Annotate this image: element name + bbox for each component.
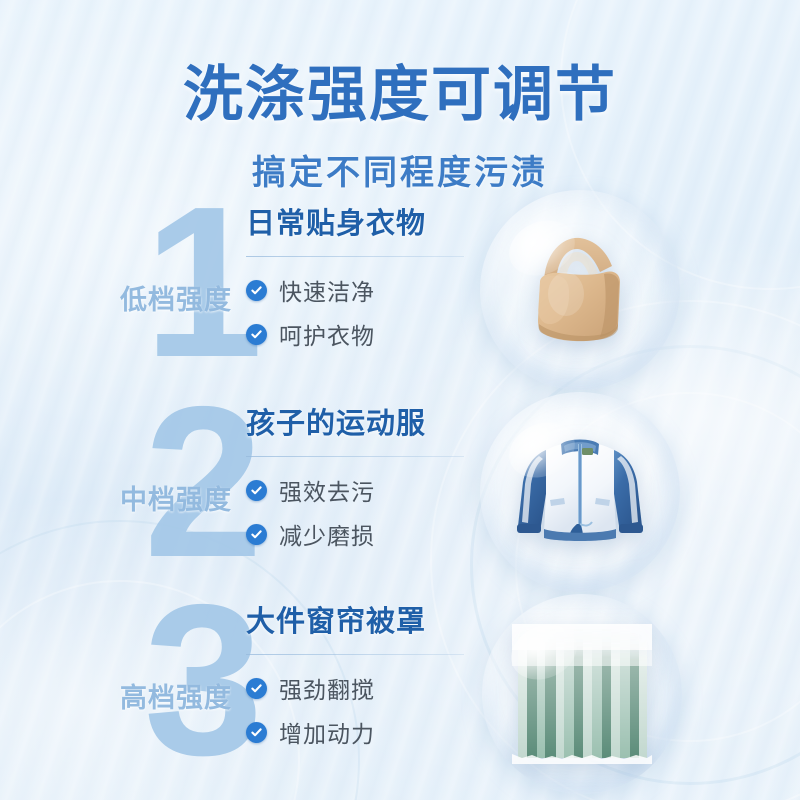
feature-label: 强劲翻搅 [279,671,375,705]
check-circle-icon [246,722,267,743]
intensity-row-2: 2 中档强度 孩子的运动服 强效去污 减少磨损 [0,390,800,590]
product-bubble-1 [480,190,680,390]
sports-jacket-icon [480,392,680,592]
divider [246,456,464,457]
divider [246,256,464,257]
feature-list: 快速洁净 呵护衣物 [246,273,471,351]
feature-label: 减少磨损 [279,517,375,551]
category-title: 日常贴身衣物 [246,200,471,242]
feature-item: 强劲翻搅 [246,671,471,705]
category-title: 大件窗帘被罩 [246,598,471,640]
level-text-column: 大件窗帘被罩 强劲翻搅 增加动力 [246,598,471,759]
product-bubble-3 [482,594,682,794]
feature-item: 呵护衣物 [246,317,471,351]
divider [246,654,464,655]
feature-label: 增加动力 [279,715,375,749]
feature-item: 减少磨损 [246,517,471,551]
feature-item: 快速洁净 [246,273,471,307]
feature-item: 增加动力 [246,715,471,749]
level-label: 中档强度 [96,478,256,517]
page-title: 洗涤强度可调节 [0,46,800,133]
feature-label: 强效去污 [279,473,375,507]
level-label: 低档强度 [96,278,256,317]
check-circle-icon [246,280,267,301]
check-circle-icon [246,480,267,501]
promo-poster: 洗涤强度可调节 搞定不同程度污渍 1 低档强度 日常贴身衣物 快速洁净 [0,0,800,800]
feature-label: 呵护衣物 [279,317,375,351]
feature-item: 强效去污 [246,473,471,507]
feature-list: 强效去污 减少磨损 [246,473,471,551]
category-title: 孩子的运动服 [246,400,471,442]
intensity-row-1: 1 低档强度 日常贴身衣物 快速洁净 呵护衣物 [0,190,800,390]
product-bubble-2 [480,392,680,592]
level-text-column: 孩子的运动服 强效去污 减少磨损 [246,400,471,561]
curtains-icon [482,594,682,794]
poster-header: 洗涤强度可调节 搞定不同程度污渍 [0,0,800,194]
feature-label: 快速洁净 [279,273,375,307]
level-label: 高档强度 [96,676,256,715]
check-circle-icon [246,678,267,699]
check-circle-icon [246,524,267,545]
check-circle-icon [246,324,267,345]
sports-bra-icon [480,190,680,390]
level-text-column: 日常贴身衣物 快速洁净 呵护衣物 [246,200,471,361]
feature-list: 强劲翻搅 增加动力 [246,671,471,749]
